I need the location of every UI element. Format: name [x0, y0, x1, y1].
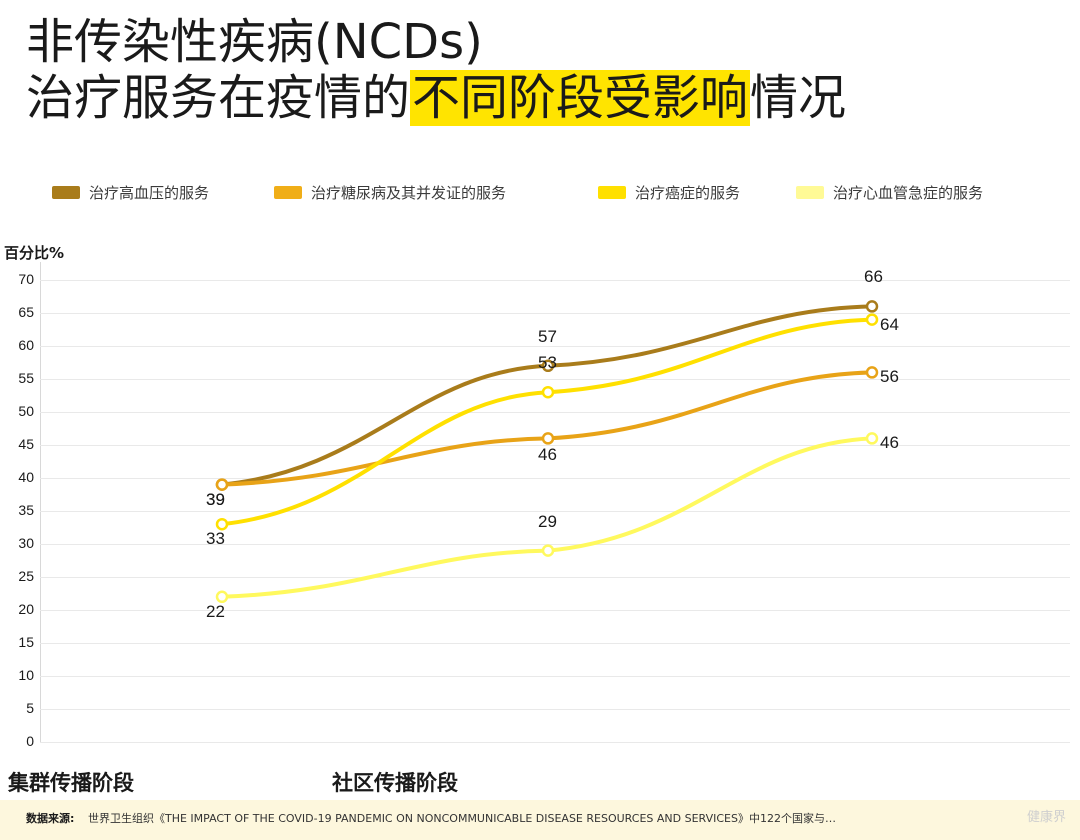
legend-swatch-icon — [274, 186, 302, 199]
footnote-source-label: 数据来源: — [26, 810, 74, 826]
y-axis-unit-label: 百分比% — [4, 242, 64, 263]
legend-label: 治疗高血压的服务 — [89, 182, 209, 203]
legend-item-diabetes[interactable]: 治疗糖尿病及其并发证的服务 — [274, 180, 506, 204]
title-line-2-post: 情况 — [750, 70, 846, 126]
data-point-marker — [217, 592, 227, 602]
legend-item-cardio-emergency[interactable]: 治疗心血管急症的服务 — [796, 180, 983, 204]
legend-swatch-icon — [52, 186, 80, 199]
data-point-label: 46 — [880, 433, 899, 453]
legend-item-hypertension[interactable]: 治疗高血压的服务 — [52, 180, 209, 204]
data-point-marker — [217, 480, 227, 490]
legend-label: 治疗癌症的服务 — [635, 182, 740, 203]
data-point-marker — [867, 433, 877, 443]
data-point-label: 39 — [206, 490, 225, 510]
chart-legend: 治疗高血压的服务 治疗糖尿病及其并发证的服务 治疗癌症的服务 治疗心血管急症的服… — [52, 180, 1062, 204]
legend-item-cancer[interactable]: 治疗癌症的服务 — [598, 180, 740, 204]
data-point-label: 57 — [538, 327, 557, 347]
chart-plot-area: 0510152025303540455055606570 39576639465… — [0, 262, 1080, 762]
title-line-1: 非传染性疾病(NCDs) — [26, 14, 1066, 70]
data-point-marker — [867, 301, 877, 311]
series-line — [222, 320, 872, 525]
legend-label: 治疗糖尿病及其并发证的服务 — [311, 182, 506, 203]
footnote-text: 世界卫生组织《THE IMPACT OF THE COVID-19 PANDEM… — [88, 810, 836, 826]
data-point-marker — [867, 315, 877, 325]
data-point-marker — [543, 433, 553, 443]
x-axis-label: 社区传播阶段 — [332, 767, 458, 797]
title-line-2-pre: 治疗服务在疫情的 — [26, 70, 410, 126]
data-point-label: 22 — [206, 602, 225, 622]
legend-label: 治疗心血管急症的服务 — [833, 182, 983, 203]
data-point-marker — [543, 546, 553, 556]
data-point-marker — [867, 367, 877, 377]
watermark-label: 健康界 — [1027, 806, 1066, 825]
data-point-marker — [217, 519, 227, 529]
title-highlight: 不同阶段受影响 — [410, 70, 750, 126]
page-title: 非传染性疾病(NCDs) 治疗服务在疫情的不同阶段受影响情况 — [26, 14, 1066, 126]
legend-swatch-icon — [598, 186, 626, 199]
legend-swatch-icon — [796, 186, 824, 199]
x-axis-label: 集群传播阶段 — [8, 767, 134, 797]
data-point-label: 66 — [864, 267, 883, 287]
data-point-label: 64 — [880, 315, 899, 335]
data-point-marker — [543, 387, 553, 397]
data-point-label: 29 — [538, 512, 557, 532]
data-point-label: 33 — [206, 529, 225, 549]
data-point-label: 46 — [538, 445, 557, 465]
data-point-label: 53 — [538, 353, 557, 373]
title-line-2: 治疗服务在疫情的不同阶段受影响情况 — [26, 70, 1066, 126]
data-point-label: 56 — [880, 367, 899, 387]
